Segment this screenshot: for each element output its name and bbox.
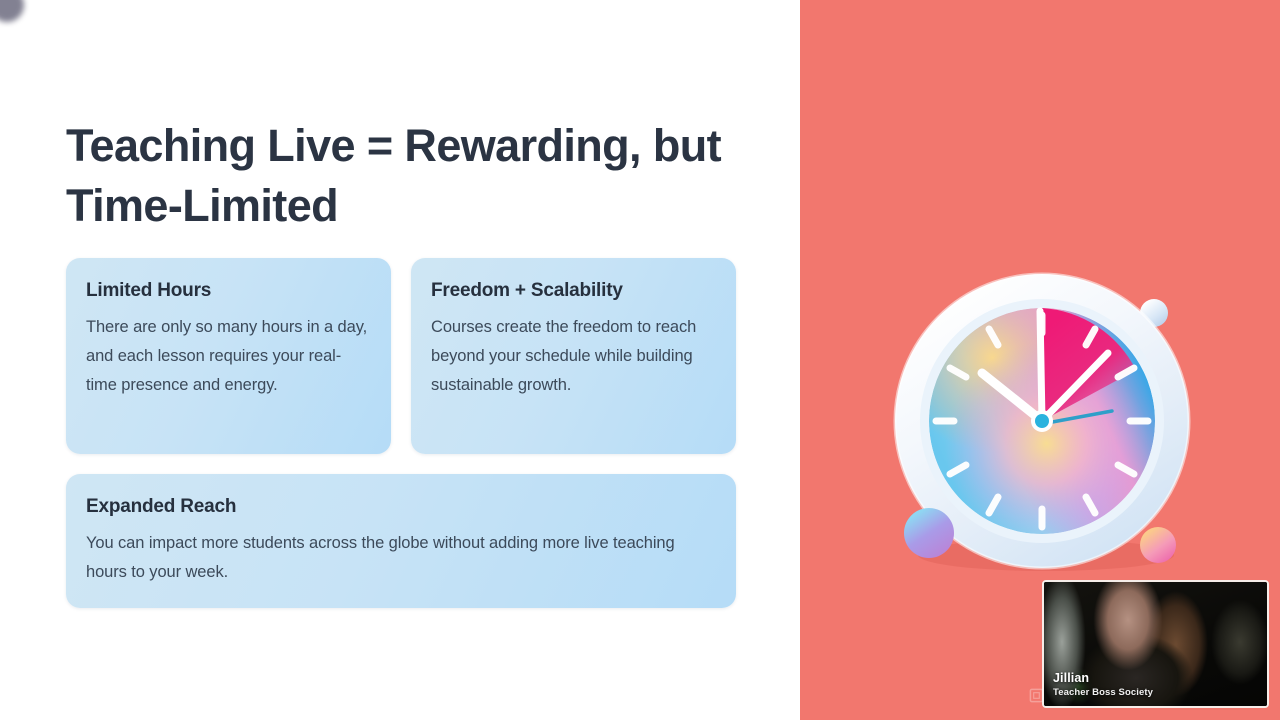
speaker-organization: Teacher Boss Society bbox=[1053, 686, 1153, 699]
corner-artifact bbox=[0, 0, 24, 22]
card-title: Limited Hours bbox=[86, 280, 371, 302]
gradient-alarm-clock-icon bbox=[886, 265, 1198, 577]
webcam-overlay[interactable]: Jillian Teacher Boss Society bbox=[1042, 580, 1269, 708]
card-body: There are only so many hours in a day, a… bbox=[86, 313, 371, 400]
speaker-name: Jillian bbox=[1053, 671, 1153, 686]
slide-stage: Teaching Live = Rewarding, but Time-Limi… bbox=[0, 0, 1280, 720]
slide-content-panel: Teaching Live = Rewarding, but Time-Limi… bbox=[0, 0, 800, 720]
card-body: Courses create the freedom to reach beyo… bbox=[431, 313, 716, 400]
square-frame-icon bbox=[1029, 688, 1044, 703]
card-title: Expanded Reach bbox=[86, 496, 716, 518]
page-title: Teaching Live = Rewarding, but Time-Limi… bbox=[66, 116, 756, 236]
webcam-caption: Jillian Teacher Boss Society bbox=[1053, 671, 1153, 699]
info-card-freedom-scalability: Freedom + Scalability Courses create the… bbox=[411, 258, 736, 454]
info-card-expanded-reach: Expanded Reach You can impact more stude… bbox=[66, 474, 736, 608]
info-card-limited-hours: Limited Hours There are only so many hou… bbox=[66, 258, 391, 454]
card-body: You can impact more students across the … bbox=[86, 529, 716, 587]
card-title: Freedom + Scalability bbox=[431, 280, 716, 302]
